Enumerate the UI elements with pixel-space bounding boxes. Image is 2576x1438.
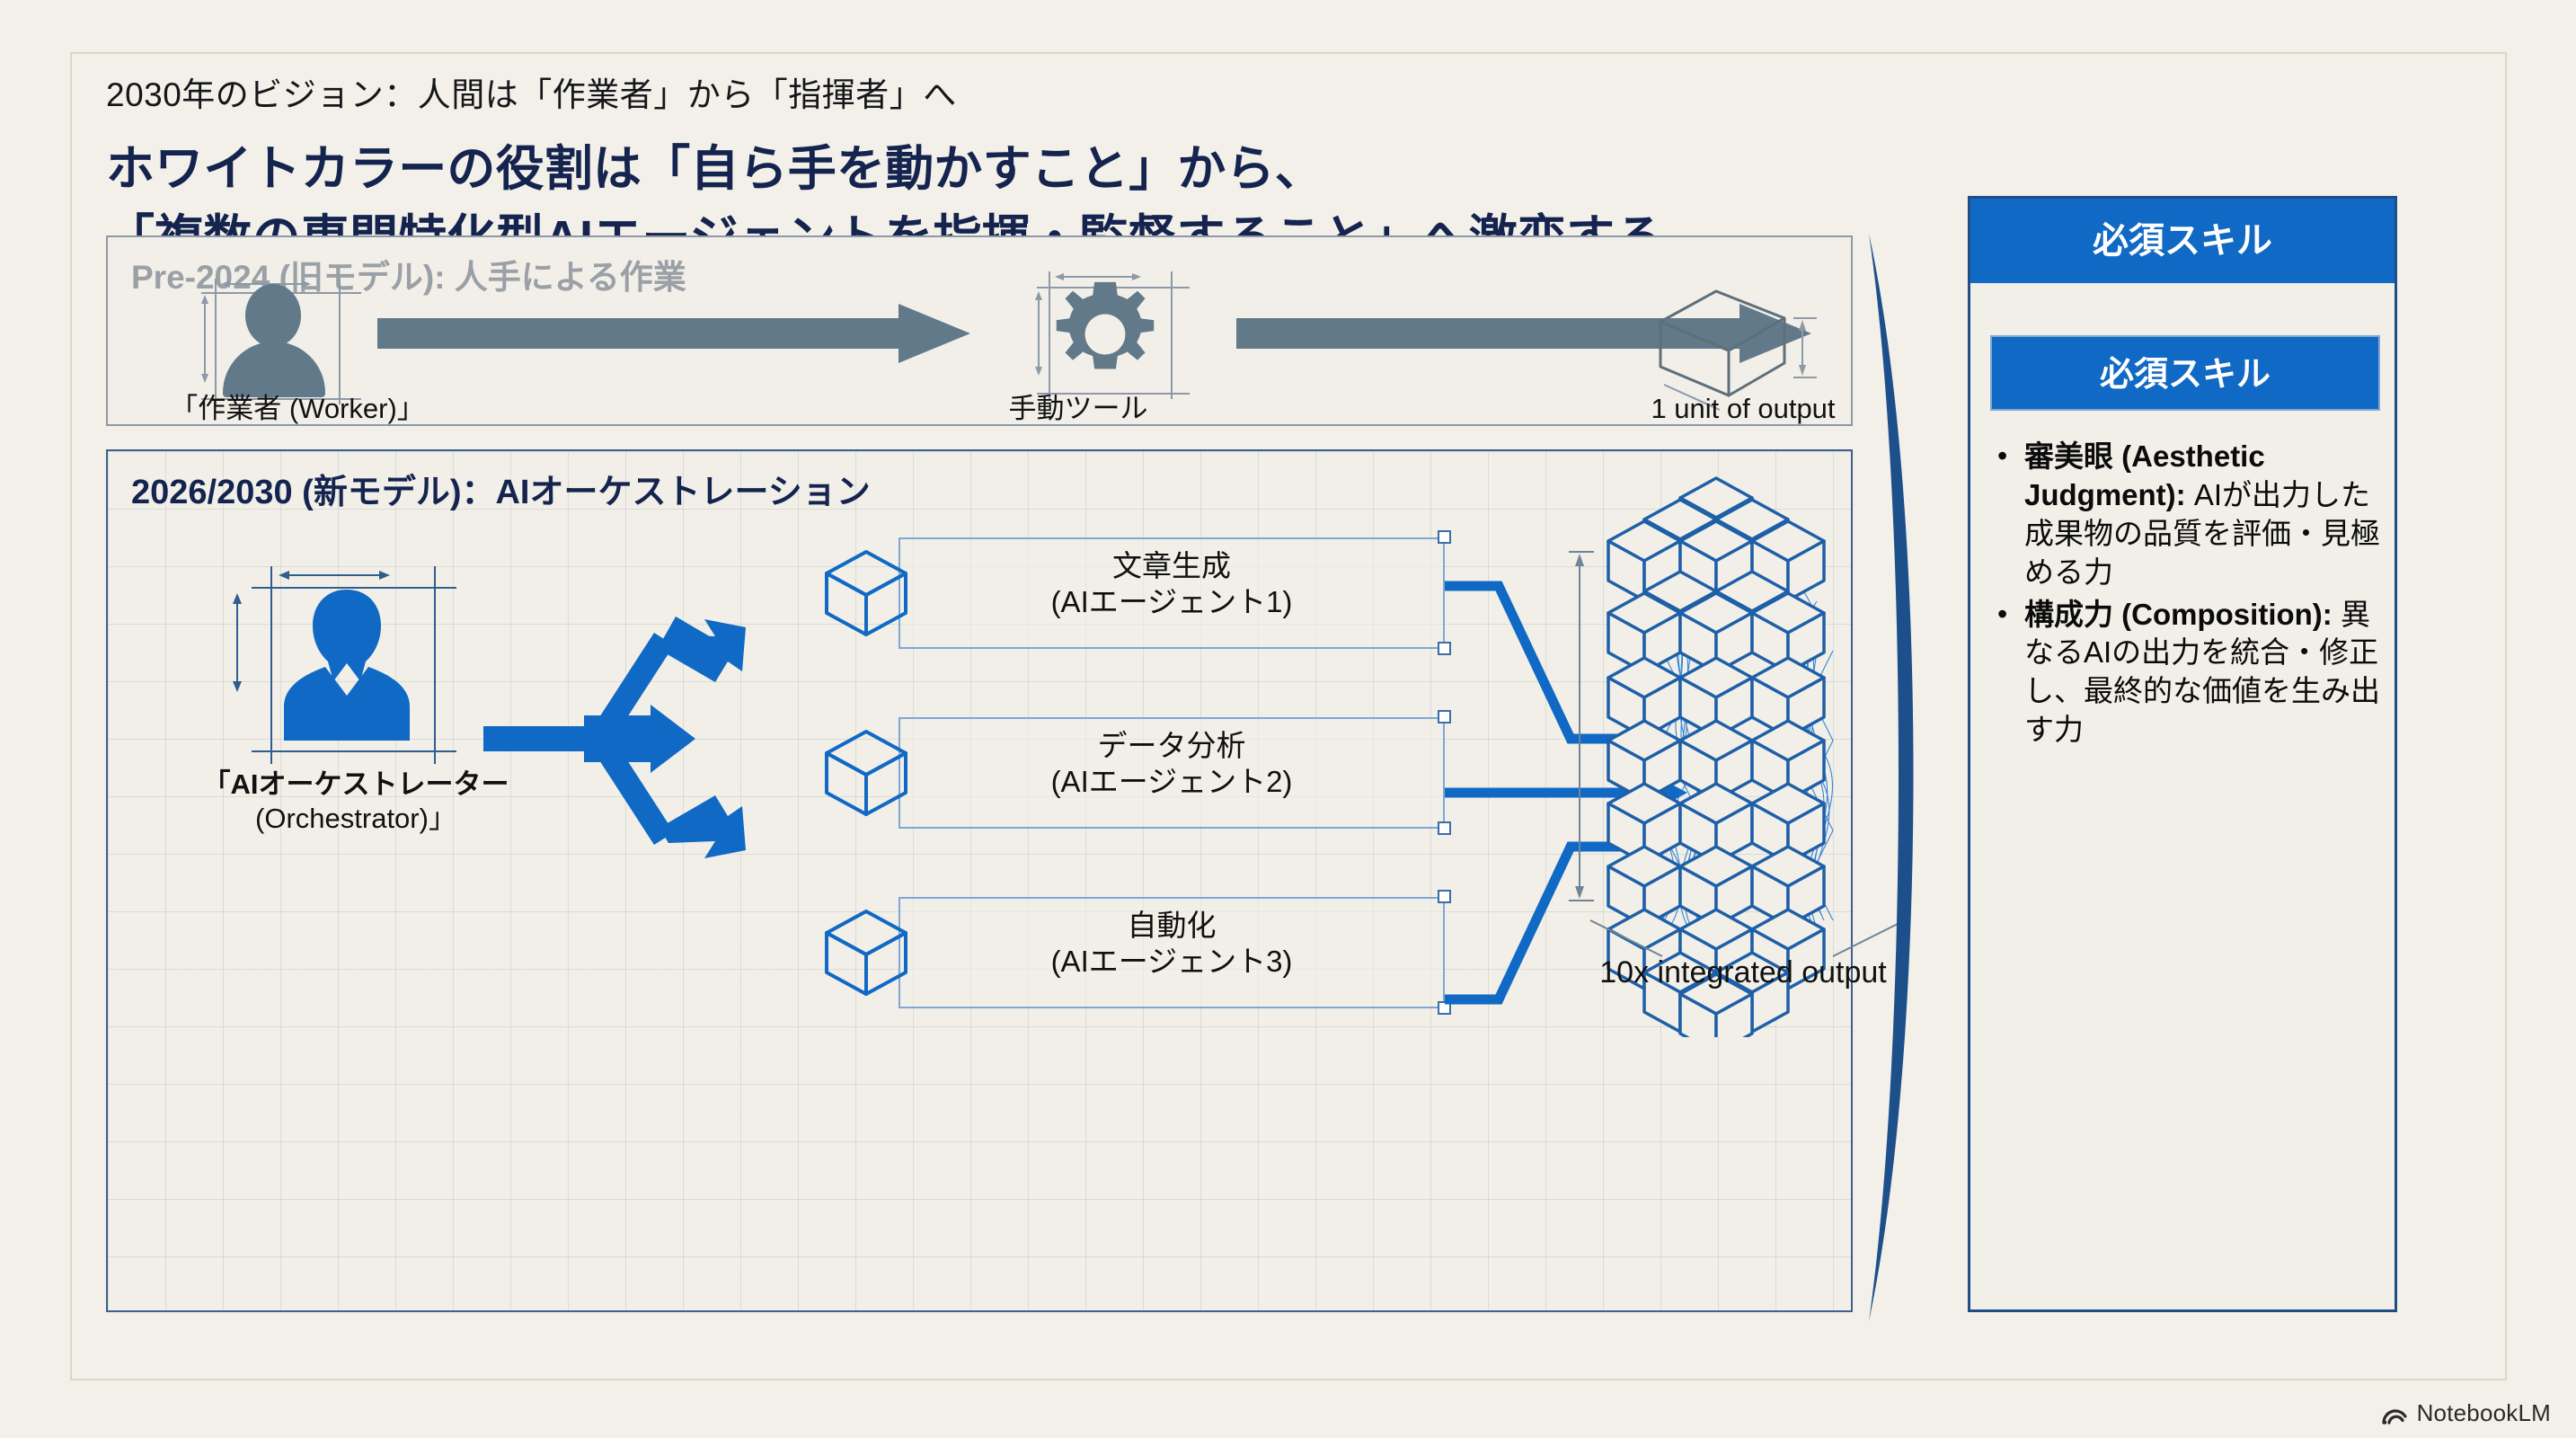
skills-list: 審美眼 (Aesthetic Judgment): AIが出力した成果物の品質を…: [1990, 438, 2386, 753]
agent-1-id: (AIエージェント1): [899, 584, 1445, 620]
worker-caption: 「作業者 (Worker)」: [167, 392, 428, 426]
agent-3-label: 自動化 (AIエージェント3): [899, 908, 1445, 979]
flow-arrow-1-icon: [377, 304, 970, 363]
agent-1-name: 文章生成: [899, 548, 1445, 584]
slide-canvas: 2030年のビジョン：人間は「作業者」から「指揮者」へ ホワイトカラーの役割は「…: [70, 52, 2507, 1380]
watermark-label: NotebookLM: [2417, 1399, 2551, 1427]
agent-3-name: 自動化: [899, 908, 1445, 944]
fanout-arrows-icon: [483, 527, 861, 994]
notebooklm-arc-icon: [2381, 1402, 2408, 1425]
skills-panel: 必須スキル 必須スキル 審美眼 (Aesthetic Judgment): AI…: [1968, 196, 2397, 1312]
resize-handle-a1-tr[interactable]: [1438, 530, 1451, 544]
agent-2-label: データ分析 (AIエージェント2): [899, 728, 1445, 799]
agent-1-label: 文章生成 (AIエージェント1): [899, 548, 1445, 619]
person-icon: [216, 284, 334, 392]
agent-cube-1-icon: [818, 545, 915, 642]
notebooklm-watermark: NotebookLM: [2381, 1399, 2551, 1427]
skill-term-2: 構成力 (Composition):: [2024, 598, 2333, 631]
divider-wedge-icon: [1865, 234, 1964, 1321]
list-item: 審美眼 (Aesthetic Judgment): AIが出力した成果物の品質を…: [1990, 438, 2386, 592]
skills-panel-subheader: 必須スキル: [1990, 335, 2380, 411]
agent-2-id: (AIエージェント2): [899, 764, 1445, 800]
output-caption: 1 unit of output: [1581, 392, 1905, 426]
eyebrow-text: 2030年のビジョン：人間は「作業者」から「指揮者」へ: [106, 74, 2406, 117]
old-model-panel: Pre-2024 (旧モデル): 人手による作業: [106, 235, 1853, 426]
list-item: 構成力 (Composition): 異なるAIの出力を統合・修正し、最終的な価…: [1990, 596, 2386, 750]
orchestrator-person-icon: [271, 584, 422, 742]
new-model-panel: 2026/2030 (新モデル)：AIオーケストレーション 「: [106, 449, 1853, 1312]
headline-line-1: ホワイトカラーの役割は「自ら手を動かすこと」から、: [106, 135, 2406, 204]
agent-3-id: (AIエージェント3): [899, 944, 1445, 980]
agent-2-name: データ分析: [899, 728, 1445, 764]
agent-cube-2-icon: [818, 724, 915, 821]
new-model-panel-title: 2026/2030 (新モデル)：AIオーケストレーション: [131, 464, 871, 513]
skills-panel-header: 必須スキル: [1970, 199, 2395, 283]
gear-icon: [1046, 275, 1164, 394]
agent-cube-3-icon: [818, 904, 915, 1001]
tool-caption: 手動ツール: [988, 392, 1168, 426]
